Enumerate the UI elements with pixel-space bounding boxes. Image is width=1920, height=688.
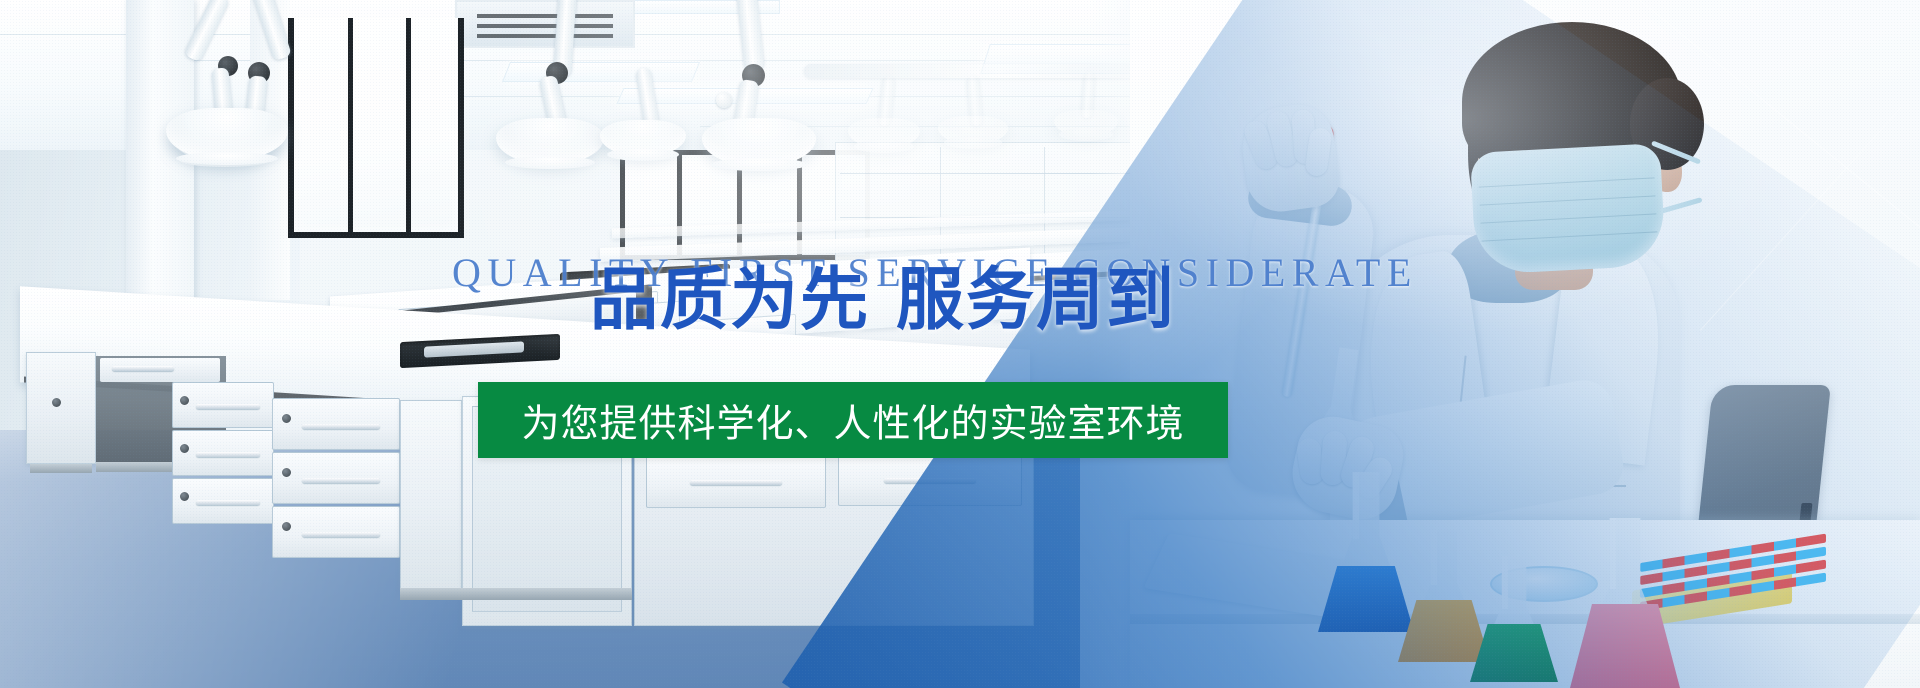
extraction-arm-knob bbox=[716, 92, 732, 108]
cabinet-lock-icon bbox=[282, 522, 291, 531]
drawer-handle[interactable] bbox=[196, 452, 260, 457]
cabinet-lock-icon bbox=[180, 492, 189, 501]
cabinet-lock-icon bbox=[180, 396, 189, 405]
subtitle-text: 为您提供科学化、人性化的实验室环境 bbox=[478, 393, 1228, 448]
hvac-ceiling-diffuser bbox=[455, 0, 635, 48]
dome-extraction-hood bbox=[938, 116, 1008, 144]
dome-extraction-hood bbox=[848, 118, 920, 148]
cabinet-lock-icon bbox=[282, 414, 291, 423]
subtitle-green-banner: 为您提供科学化、人性化的实验室环境 bbox=[478, 382, 1228, 458]
drawer-handle[interactable] bbox=[196, 404, 260, 409]
cabinet-end-panel bbox=[400, 400, 462, 590]
drawer-handle[interactable] bbox=[196, 500, 260, 505]
ceiling-light-panel bbox=[502, 62, 700, 82]
window-black-frame bbox=[288, 18, 464, 238]
cabinet-plinth bbox=[400, 588, 632, 600]
headline-chinese: 品质为先服务周到 bbox=[590, 244, 1176, 343]
cabinet-lock-icon bbox=[52, 398, 61, 407]
dome-extraction-hood bbox=[600, 120, 686, 156]
cabinet-plinth bbox=[30, 464, 92, 473]
drawer-handle[interactable] bbox=[302, 478, 380, 483]
drawer-handle[interactable] bbox=[112, 366, 174, 371]
headline-chinese-left: 品质为先 bbox=[590, 262, 870, 338]
cabinet-lock-icon bbox=[282, 468, 291, 477]
headline-chinese-right: 服务周到 bbox=[896, 262, 1176, 338]
cabinet-lock-icon bbox=[180, 444, 189, 453]
lab-hero-banner: QUALITY FIRST SERVICE CONSIDERATE 品质为先服务… bbox=[0, 0, 1920, 688]
drawer-handle[interactable] bbox=[690, 480, 782, 485]
drawer-cabinet[interactable] bbox=[26, 352, 96, 464]
drawer-handle[interactable] bbox=[302, 532, 380, 537]
drawer-handle[interactable] bbox=[302, 424, 380, 429]
